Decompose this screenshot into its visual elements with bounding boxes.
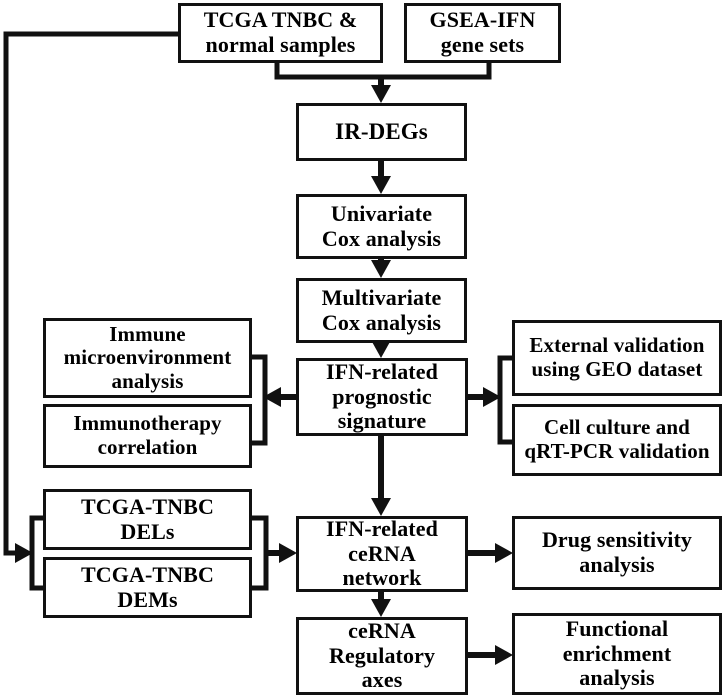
node-functional-enrich[interactable]: Functional enrichment analysis: [512, 613, 722, 695]
node-drug-sensitivity[interactable]: Drug sensitivity analysis: [512, 516, 722, 590]
node-immune-micro[interactable]: Immune microenvironment analysis: [43, 318, 252, 398]
arrowhead-far-left-loop: [15, 543, 33, 563]
node-cerna-axes[interactable]: ceRNA Regulatory axes: [296, 617, 468, 695]
node-univariate-cox[interactable]: Univariate Cox analysis: [296, 194, 467, 259]
arrowhead-univariate: [371, 176, 391, 194]
node-tcga-dems[interactable]: TCGA-TNBC DEMs: [43, 557, 252, 618]
node-immunotherapy[interactable]: Immunotherapy correlation: [43, 404, 252, 468]
connector-right-bracket: [500, 358, 512, 442]
arrowhead-cerna: [371, 498, 391, 516]
connector-samples-down: [277, 63, 380, 77]
arrowhead-functional: [495, 645, 513, 665]
arrowhead-left-branch: [263, 387, 281, 407]
arrowhead-multivariate: [371, 260, 391, 278]
arrowhead-cerna-from-left: [279, 543, 297, 563]
connector-far-left-loop: [6, 34, 178, 553]
connector-left-bracket: [252, 357, 265, 443]
node-ifn-cerna[interactable]: IFN-related ceRNA network: [296, 516, 468, 592]
connector-dels-dems-left-bracket: [32, 518, 43, 588]
connector-dels-dems-right-bracket: [252, 518, 266, 588]
node-cell-culture[interactable]: Cell culture and qRT-PCR validation: [512, 404, 722, 476]
connector-gsea-down: [380, 63, 489, 77]
arrowhead-axes: [371, 599, 391, 617]
node-multivariate-cox[interactable]: Multivariate Cox analysis: [296, 278, 467, 343]
node-external-val[interactable]: External validation using GEO dataset: [512, 320, 722, 396]
arrowhead-right-branch: [483, 387, 501, 407]
node-ifn-signature[interactable]: IFN-related prognostic signature: [296, 358, 468, 436]
flowchart-canvas: TCGA TNBC & normal samples GSEA-IFN gene…: [0, 0, 726, 698]
arrowhead-drug: [495, 543, 513, 563]
node-tcga-samples[interactable]: TCGA TNBC & normal samples: [178, 3, 383, 63]
arrowhead-irdegs: [371, 85, 391, 103]
node-gsea-gene-sets[interactable]: GSEA-IFN gene sets: [404, 3, 561, 63]
node-tcga-dels[interactable]: TCGA-TNBC DELs: [43, 489, 252, 550]
node-ir-degs[interactable]: IR-DEGs: [296, 103, 467, 161]
